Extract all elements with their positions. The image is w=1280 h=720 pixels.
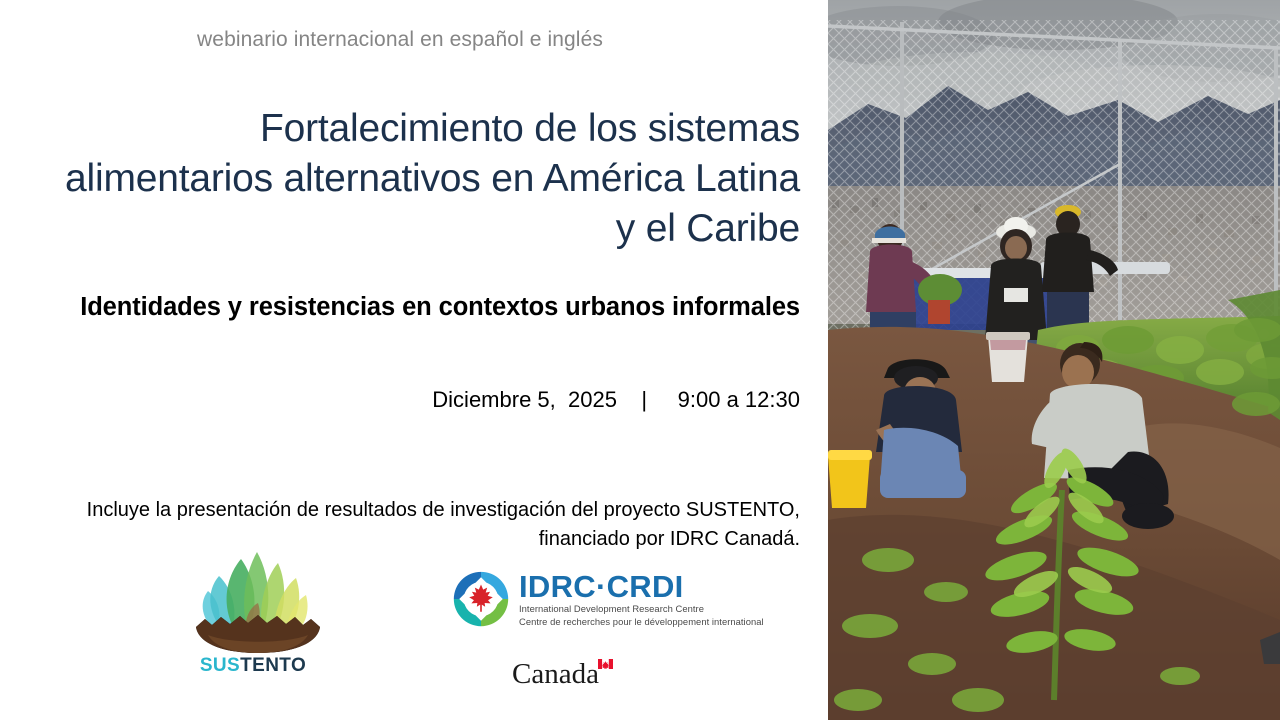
page-title: Fortalecimiento de los sistemas alimenta… — [60, 104, 800, 254]
sustento-logo: SUSTENTO — [178, 545, 328, 677]
idrc-logo: IDRC·CRDI International Development Rese… — [452, 570, 764, 628]
sustento-wordmark: SUSTENTO — [178, 655, 328, 677]
sustento-word-second: TENTO — [240, 655, 306, 676]
photo-illustration — [828, 0, 1280, 720]
eyebrow-text: webinario internacional en español e ing… — [0, 28, 800, 52]
sustento-word-first: SUS — [200, 655, 240, 676]
page-subtitle: Identidades y resistencias en contextos … — [45, 286, 800, 328]
canada-wordmark-with-flag-icon: Canada — [512, 657, 620, 691]
idrc-circle-maple-leaf-icon — [452, 570, 510, 628]
text-panel: webinario internacional en español e ing… — [0, 0, 828, 720]
idrc-wordmark: IDRC·CRDI — [519, 570, 764, 603]
idrc-tagline-en: International Development Research Centr… — [519, 603, 764, 616]
date-time-line: Diciembre 5, 2025 | 9:00 a 12:30 — [45, 387, 800, 413]
idrc-text-block: IDRC·CRDI International Development Rese… — [519, 570, 764, 628]
sustento-leaves-in-soil-icon — [178, 545, 328, 653]
idrc-tagline-fr: Centre de recherches pour le développeme… — [519, 616, 764, 629]
webinar-poster: webinario internacional en español e ing… — [0, 0, 1280, 720]
svg-text:Canada: Canada — [512, 658, 599, 690]
logo-row: SUSTENTO IDRC·CRDI Inte — [0, 545, 828, 720]
canada-wordmark: Canada — [512, 657, 620, 697]
urban-garden-volunteers-planting-photo — [828, 0, 1280, 720]
